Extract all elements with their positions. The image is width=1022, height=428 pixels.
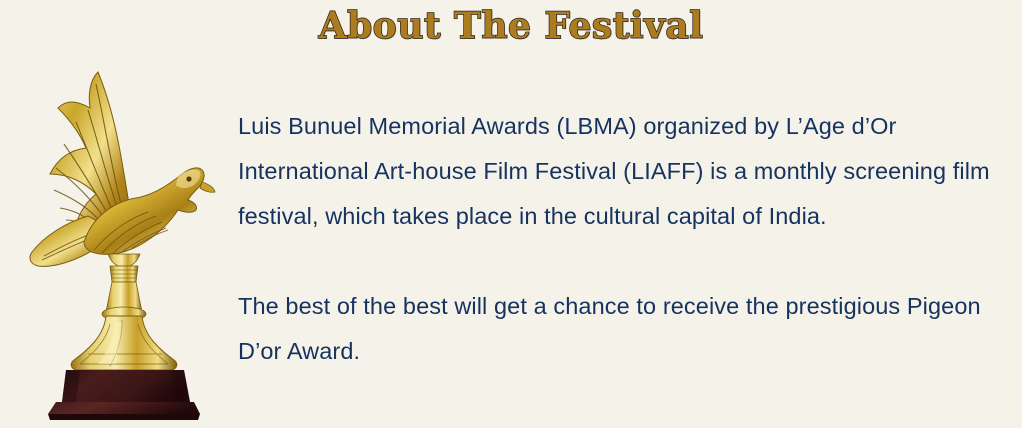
trophy-bird-eye: [186, 176, 191, 181]
about-the-festival-section: About The Festival Luis Bunuel Memorial …: [0, 0, 1022, 428]
about-paragraph-1: Luis Bunuel Memorial Awards (LBMA) organ…: [238, 104, 1016, 239]
trophy-illustration: [18, 58, 218, 420]
about-text-block: Luis Bunuel Memorial Awards (LBMA) organ…: [238, 104, 1016, 374]
pigeon-dor-trophy-image: [18, 58, 218, 420]
trophy-wooden-base: [48, 370, 200, 420]
page-title: About The Festival: [0, 4, 1022, 48]
about-paragraph-2: The best of the best will get a chance t…: [238, 284, 1016, 374]
trophy-stem: [71, 254, 177, 370]
